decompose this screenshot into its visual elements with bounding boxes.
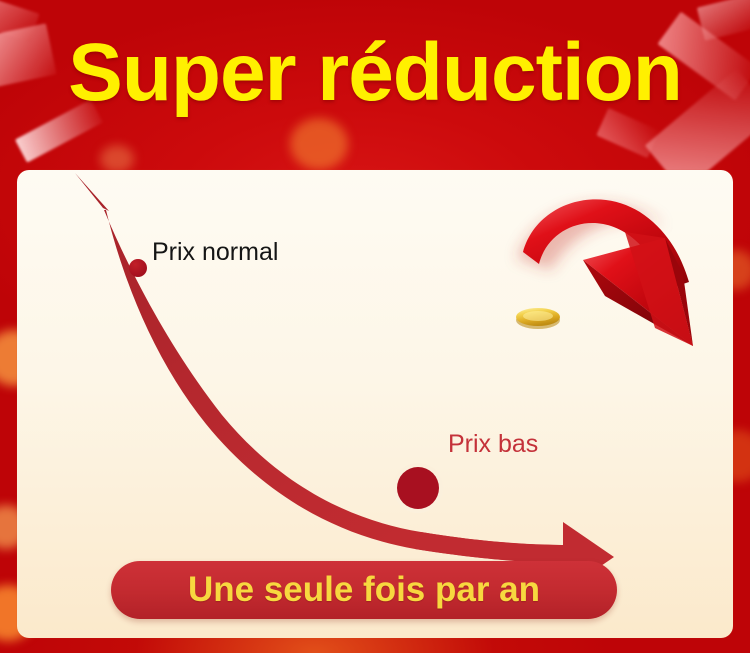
low-price-label: Prix bas xyxy=(448,430,538,459)
promo-banner: Super réduction xyxy=(0,0,750,653)
low-price-marker xyxy=(397,467,439,509)
price-curve-tail xyxy=(75,173,109,211)
normal-price-marker xyxy=(129,259,147,277)
offer-frequency-button[interactable]: Une seule fois par an xyxy=(111,561,617,619)
offer-frequency-label: Une seule fois par an xyxy=(188,570,540,610)
normal-price-label: Prix normal xyxy=(152,238,278,267)
gold-coin-icon xyxy=(516,308,560,329)
page-title: Super réduction xyxy=(0,32,750,114)
promo-panel: Prix normal Prix bas Une seule fois par … xyxy=(17,170,733,638)
